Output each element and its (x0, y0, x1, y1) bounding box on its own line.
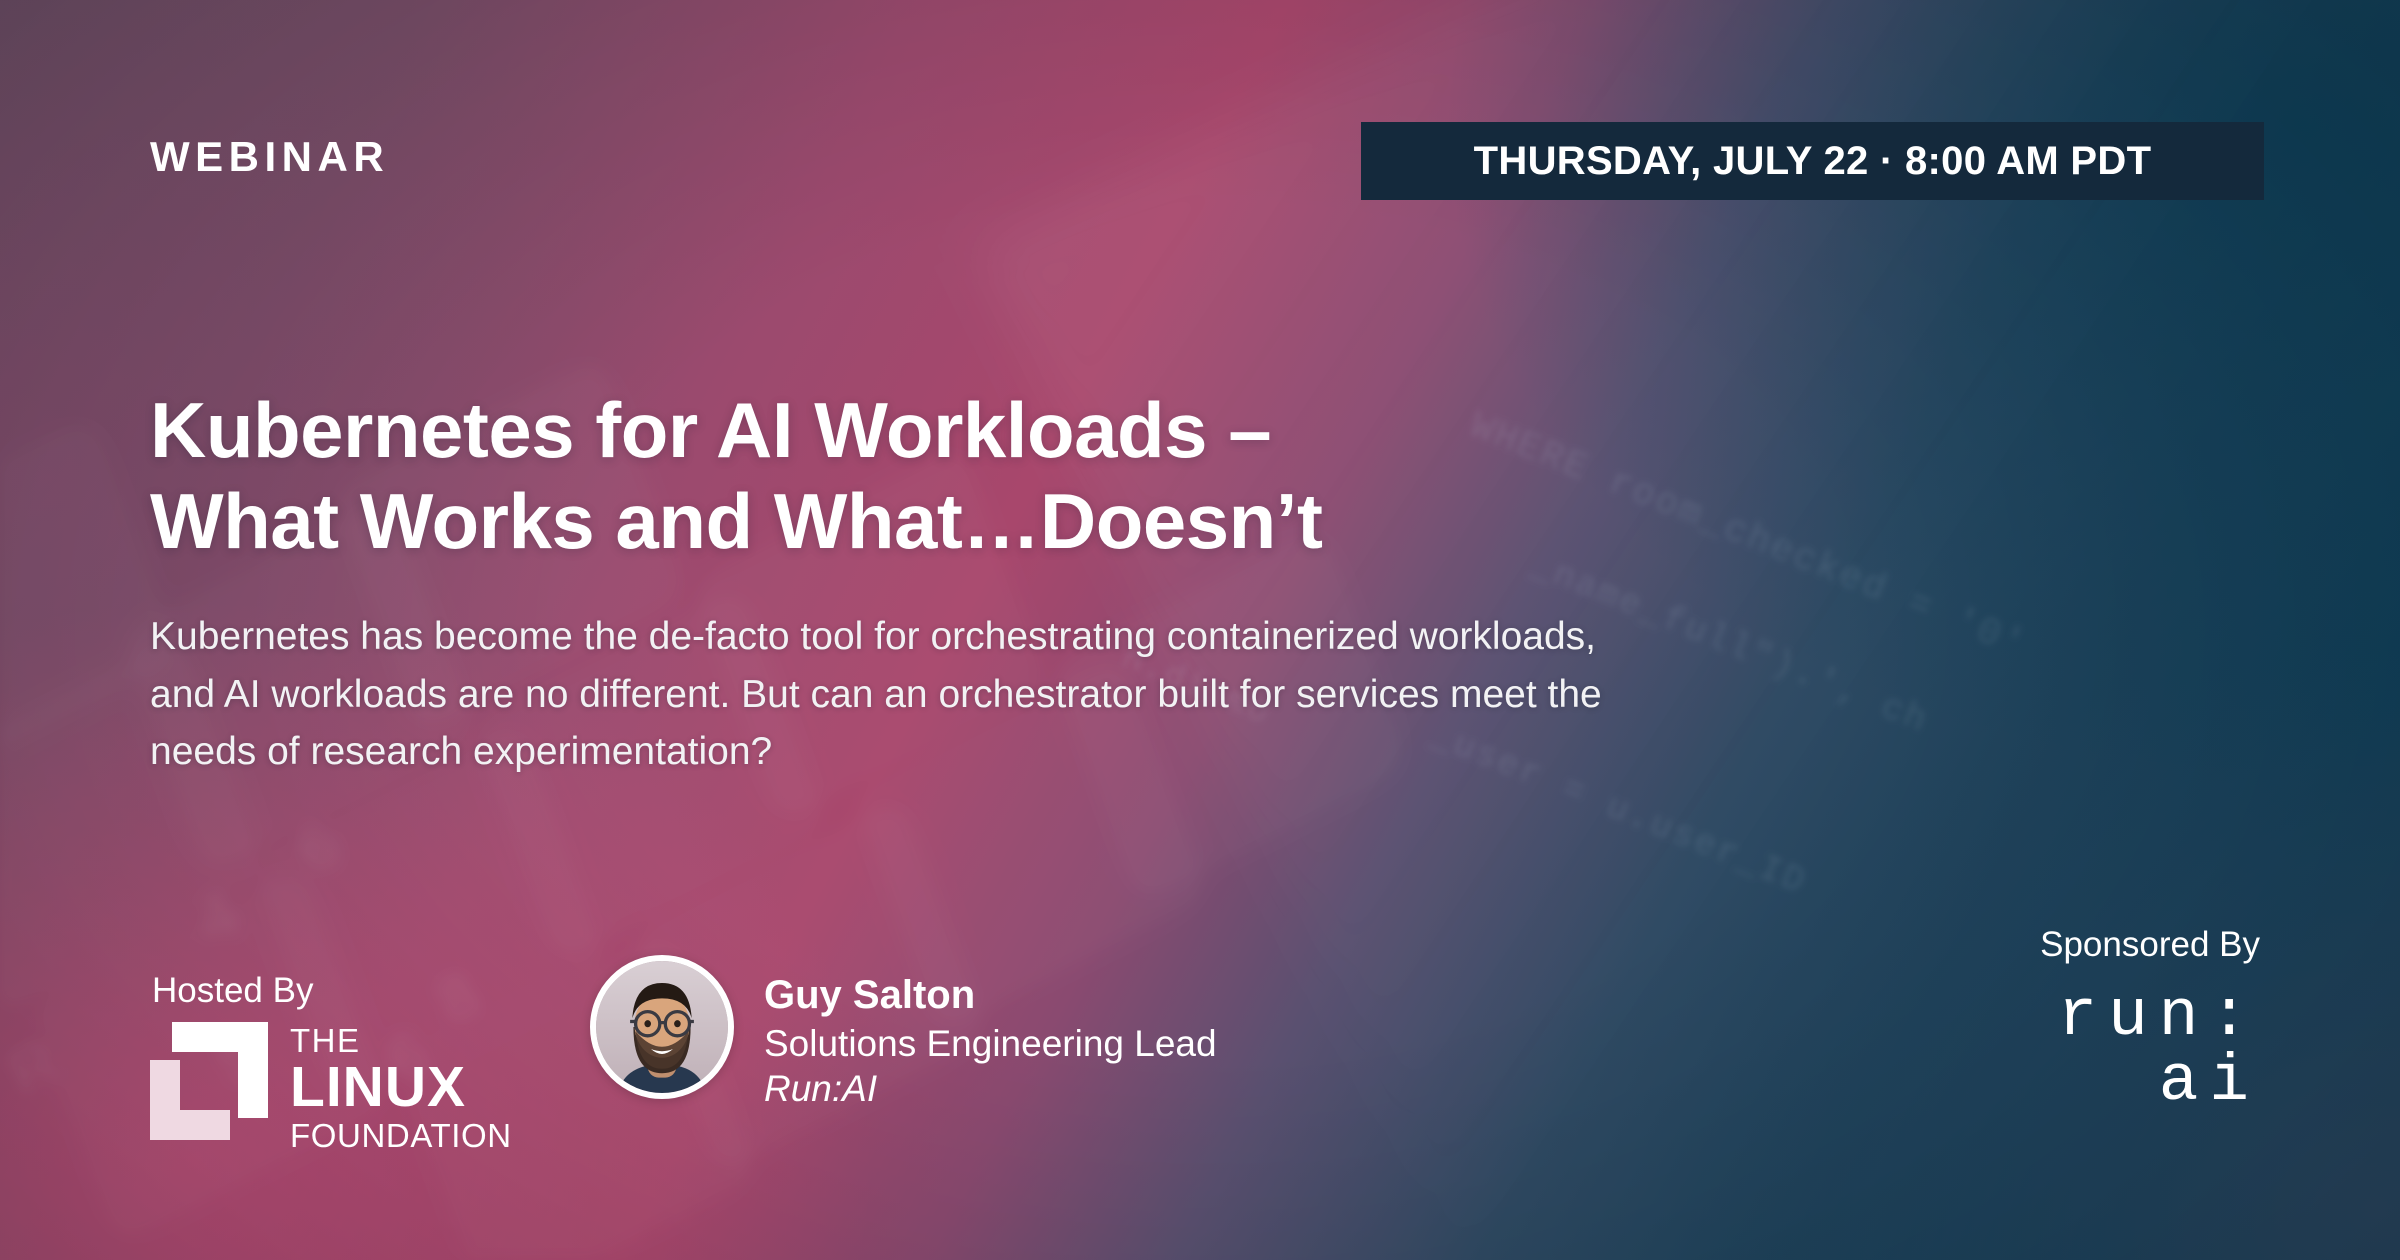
speaker-details: Guy Salton Solutions Engineering Lead Ru… (764, 955, 1217, 1112)
linux-foundation-mark-icon (150, 1022, 268, 1140)
date-badge: THURSDAY, JULY 22 · 8:00 AM PDT (1361, 122, 2264, 200)
speaker-organization: Run:AI (764, 1066, 1217, 1112)
title-line-2: What Works and What…Doesn’t (150, 476, 1322, 566)
linux-foundation-wordmark: THE LINUX FOUNDATION (290, 1022, 512, 1152)
lf-foundation-text: FOUNDATION (290, 1119, 512, 1152)
speaker-portrait-icon (596, 961, 728, 1093)
page-title: Kubernetes for AI Workloads – What Works… (150, 385, 1322, 566)
sponsored-by-label: Sponsored By (2040, 925, 2260, 965)
description-line-3: needs of research experimentation? (150, 723, 2110, 781)
runai-logo-line-1: run: (2058, 985, 2260, 1050)
description-line-1: Kubernetes has become the de-facto tool … (150, 608, 2110, 666)
description: Kubernetes has become the de-facto tool … (150, 608, 2110, 781)
webinar-banner: 4 6 5 8 6 R WHERE room_checked = '0' _na… (0, 0, 2400, 1260)
eyebrow-label: WEBINAR (150, 133, 389, 181)
description-line-2: and AI workloads are no different. But c… (150, 666, 2110, 724)
speaker-name: Guy Salton (764, 971, 1217, 1021)
hosted-by-label: Hosted By (152, 971, 313, 1011)
lf-linux-text: LINUX (290, 1059, 512, 1116)
runai-logo-line-2: ai (2058, 1050, 2260, 1115)
avatar (590, 955, 734, 1099)
speaker-role: Solutions Engineering Lead (764, 1021, 1217, 1067)
linux-foundation-logo: THE LINUX FOUNDATION (150, 1022, 512, 1152)
speaker-block: Guy Salton Solutions Engineering Lead Ru… (590, 955, 1217, 1112)
date-badge-text: THURSDAY, JULY 22 · 8:00 AM PDT (1474, 139, 2152, 184)
lf-the-text: THE (290, 1024, 512, 1057)
title-line-1: Kubernetes for AI Workloads – (150, 385, 1322, 475)
runai-logo: run: ai (2058, 985, 2260, 1114)
